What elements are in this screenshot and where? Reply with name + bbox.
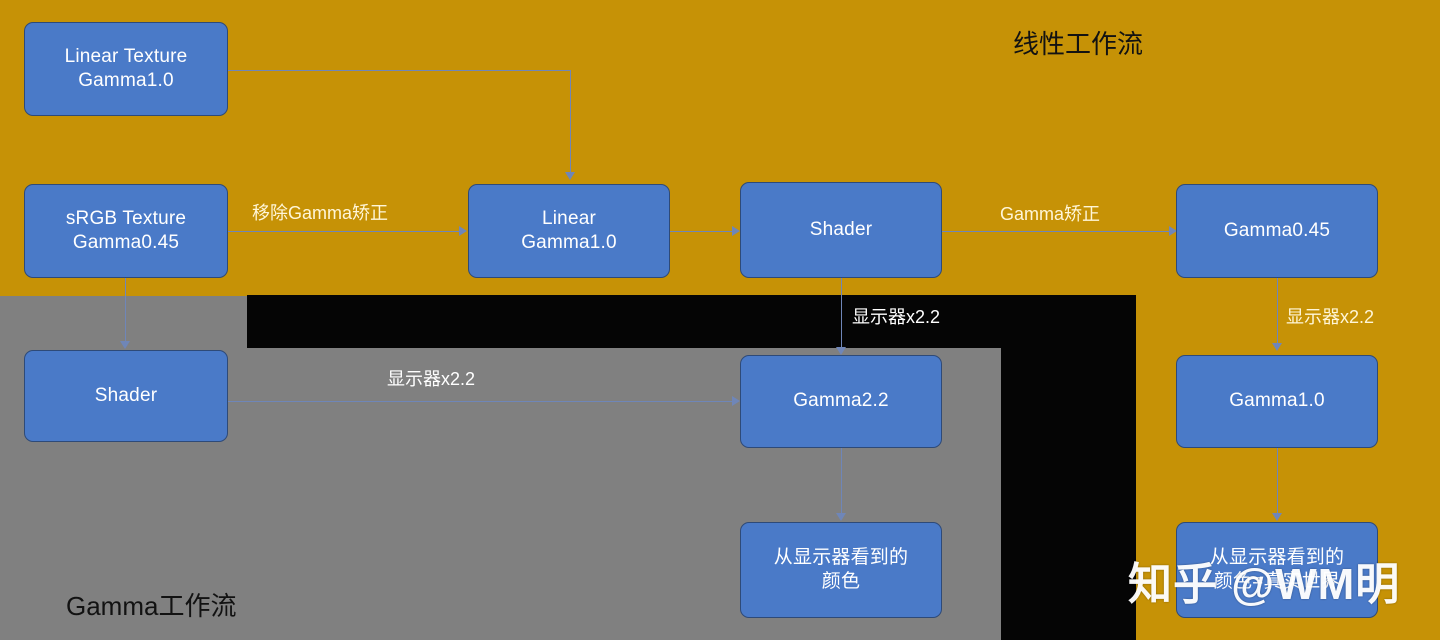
node-gamma10[interactable]: Gamma1.0 [1176, 355, 1378, 448]
node-gamma22[interactable]: Gamma2.2 [740, 355, 942, 448]
edge-gamma22-to-seen-color [841, 448, 842, 514]
node-shader-top-label: Shader [804, 218, 878, 242]
node-gamma045[interactable]: Gamma0.45 [1176, 184, 1378, 278]
diagram-canvas: 线性工作流 Gamma工作流 移除Gamma矫正 Gamma矫正 显示器x2.2… [0, 0, 1440, 640]
arrowhead-into-linear-mid-left [459, 226, 467, 236]
node-linear-texture-line2: Gamma1.0 [59, 69, 194, 93]
node-linear-mid-line1: Linear [515, 207, 623, 231]
node-gamma10-label: Gamma1.0 [1223, 389, 1331, 413]
edge-label-monitor-left: 显示器x2.2 [387, 365, 475, 391]
node-linear-mid-line2: Gamma1.0 [515, 231, 623, 255]
edge-linear-texture-vertical [570, 70, 571, 174]
edge-srgb-to-shader-bottom [125, 278, 126, 342]
arrowhead-into-seen-color-left [836, 513, 846, 521]
node-shader-top[interactable]: Shader [740, 182, 942, 278]
arrowhead-into-gamma22-left [732, 396, 740, 406]
node-gamma22-label: Gamma2.2 [787, 389, 895, 413]
edge-srgb-to-linear [228, 231, 460, 232]
black-band-right [1000, 295, 1136, 640]
arrowhead-into-shader-bottom [120, 341, 130, 349]
node-seen-color-left-line1: 从显示器看到的 [768, 546, 914, 570]
node-seen-color-left-line2: 颜色 [768, 570, 914, 594]
edge-linear-to-shader [670, 231, 733, 232]
node-linear-texture-line1: Linear Texture [59, 45, 194, 69]
node-srgb-texture-line2: Gamma0.45 [60, 231, 192, 255]
edge-label-monitor-mid: 显示器x2.2 [852, 303, 940, 329]
node-linear-texture[interactable]: Linear Texture Gamma1.0 [24, 22, 228, 116]
node-shader-bottom[interactable]: Shader [24, 350, 228, 442]
node-linear-gamma10-mid[interactable]: Linear Gamma1.0 [468, 184, 670, 278]
gamma-workflow-title: Gamma工作流 [66, 586, 236, 623]
node-shader-bottom-label: Shader [89, 384, 163, 408]
arrowhead-into-gamma10 [1272, 343, 1282, 351]
edge-gamma10-to-seen-color [1277, 448, 1278, 514]
node-srgb-texture-line1: sRGB Texture [60, 207, 192, 231]
watermark: 知乎 @WM明 [1128, 548, 1400, 612]
edge-shader-bottom-to-gamma22 [228, 401, 733, 402]
edge-label-gamma-correct: Gamma矫正 [1000, 200, 1100, 226]
edge-label-remove-gamma: 移除Gamma矫正 [252, 199, 388, 225]
edge-shader-to-gamma045 [942, 231, 1170, 232]
edge-linear-texture-horizontal [228, 70, 571, 71]
arrowhead-into-shader-top [732, 226, 740, 236]
arrowhead-into-seen-color-right [1272, 513, 1282, 521]
node-srgb-texture[interactable]: sRGB Texture Gamma0.45 [24, 184, 228, 278]
edge-label-monitor-right: 显示器x2.2 [1286, 303, 1374, 329]
arrowhead-into-linear-mid-top [565, 172, 575, 180]
edge-gamma045-to-gamma10 [1277, 278, 1278, 344]
node-seen-color-left[interactable]: 从显示器看到的 颜色 [740, 522, 942, 618]
node-gamma045-label: Gamma0.45 [1218, 219, 1336, 243]
linear-workflow-title: 线性工作流 [1013, 24, 1143, 61]
arrowhead-into-gamma22-top [836, 347, 846, 355]
edge-shader-top-to-gamma22 [841, 278, 842, 348]
